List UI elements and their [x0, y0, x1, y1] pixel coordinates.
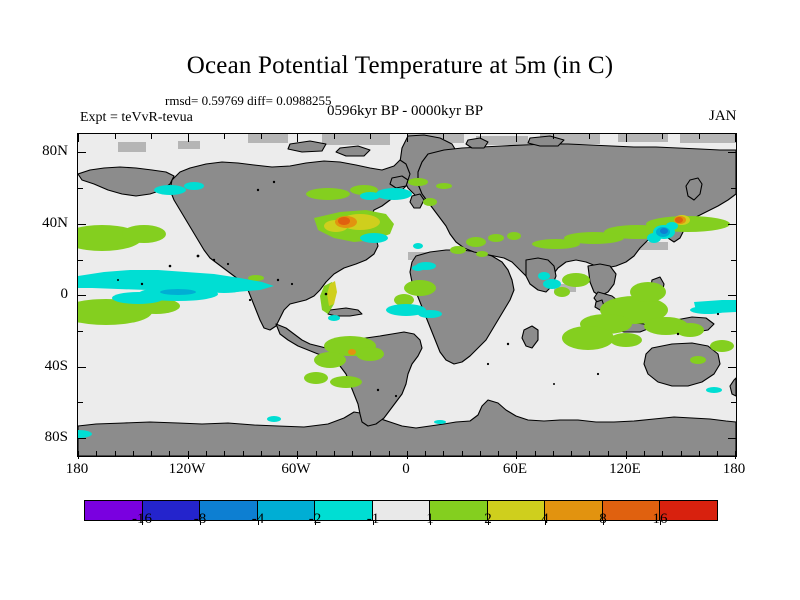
xtick-minor	[498, 451, 499, 456]
xtick-top-major	[407, 134, 408, 142]
xtick-top-minor	[589, 134, 590, 139]
xtick-major	[516, 451, 517, 459]
figure-canvas: Ocean Potential Temperature at 5m (in C)…	[0, 0, 800, 600]
xtick-label: 0	[366, 461, 446, 478]
xtick-top-minor	[370, 134, 371, 139]
xtick-top-major	[735, 134, 736, 142]
ytick-right-major	[728, 367, 736, 368]
ytick-major	[78, 367, 86, 368]
xtick-top-major	[78, 134, 79, 142]
ytick-right-major	[728, 295, 736, 296]
xtick-major	[297, 451, 298, 459]
xtick-minor	[316, 451, 317, 456]
xtick-minor	[243, 451, 244, 456]
xtick-minor	[334, 451, 335, 456]
xtick-minor	[535, 451, 536, 456]
xtick-top-minor	[151, 134, 152, 139]
xtick-minor	[699, 451, 700, 456]
xtick-major	[407, 451, 408, 459]
ytick-label: 0	[22, 286, 68, 303]
xtick-top-minor	[115, 134, 116, 139]
colorbar-label: 1	[407, 511, 453, 528]
xtick-top-major	[188, 134, 189, 142]
ytick-right-minor	[731, 331, 736, 332]
xtick-top-minor	[480, 134, 481, 139]
ytick-minor	[78, 402, 83, 403]
xtick-top-minor	[662, 134, 663, 139]
map-plot-area	[77, 133, 737, 457]
xtick-minor	[553, 451, 554, 456]
colorbar-label: -16	[119, 511, 165, 528]
ytick-major	[78, 224, 86, 225]
xtick-top-minor	[443, 134, 444, 139]
rmsd-annotation: rmsd= 0.59769 diff= 0.0988255	[165, 93, 331, 109]
ytick-right-minor	[731, 188, 736, 189]
ytick-major	[78, 152, 86, 153]
ytick-right-major	[728, 152, 736, 153]
xtick-top-major	[626, 134, 627, 142]
ytick-label: 80N	[22, 143, 68, 160]
colorbar-label: 4	[522, 511, 568, 528]
page-title: Ocean Potential Temperature at 5m (in C)	[0, 52, 800, 80]
xtick-top-minor	[334, 134, 335, 139]
xtick-major	[78, 451, 79, 459]
period-annotation: 0596kyr BP - 0000kyr BP	[327, 103, 483, 120]
xtick-minor	[571, 451, 572, 456]
xtick-top-minor	[224, 134, 225, 139]
xtick-minor	[589, 451, 590, 456]
xtick-minor	[279, 451, 280, 456]
colorbar-label: -4	[235, 511, 281, 528]
xtick-label: 180	[37, 461, 117, 478]
ytick-minor	[78, 331, 83, 332]
xtick-minor	[133, 451, 134, 456]
xtick-minor	[717, 451, 718, 456]
ytick-right-minor	[731, 260, 736, 261]
xtick-minor	[389, 451, 390, 456]
month-annotation: JAN	[709, 108, 737, 125]
ytick-label: 40N	[22, 215, 68, 232]
xtick-label: 60E	[475, 461, 555, 478]
colorbar-label: -1	[350, 511, 396, 528]
xtick-minor	[352, 451, 353, 456]
ytick-right-major	[728, 224, 736, 225]
xtick-top-major	[516, 134, 517, 142]
xtick-major	[188, 451, 189, 459]
xtick-minor	[462, 451, 463, 456]
xtick-minor	[480, 451, 481, 456]
xtick-major	[735, 451, 736, 459]
xtick-minor	[370, 451, 371, 456]
xtick-minor	[425, 451, 426, 456]
xtick-minor	[115, 451, 116, 456]
ytick-right-major	[728, 438, 736, 439]
xtick-minor	[644, 451, 645, 456]
xtick-major	[626, 451, 627, 459]
xtick-minor	[224, 451, 225, 456]
xtick-top-minor	[553, 134, 554, 139]
ytick-right-minor	[731, 402, 736, 403]
ytick-minor	[78, 260, 83, 261]
anomaly-blue-layer	[660, 228, 668, 234]
xtick-minor	[151, 451, 152, 456]
world-map-svg	[78, 134, 736, 456]
xtick-top-minor	[261, 134, 262, 139]
xtick-label: 60W	[256, 461, 336, 478]
xtick-top-minor	[699, 134, 700, 139]
colorbar-label: 8	[580, 511, 626, 528]
xtick-minor	[261, 451, 262, 456]
xtick-minor	[662, 451, 663, 456]
colorbar-label: -2	[292, 511, 338, 528]
xtick-minor	[169, 451, 170, 456]
xtick-minor	[206, 451, 207, 456]
xtick-minor	[96, 451, 97, 456]
ytick-major	[78, 438, 86, 439]
xtick-label: 120W	[147, 461, 227, 478]
ytick-label: 80S	[22, 429, 68, 446]
ytick-major	[78, 295, 86, 296]
xtick-minor	[443, 451, 444, 456]
colorbar-label: 16	[637, 511, 683, 528]
ytick-label: 40S	[22, 358, 68, 375]
ytick-minor	[78, 188, 83, 189]
xtick-label: 180	[694, 461, 774, 478]
colorbar-label: -8	[177, 511, 223, 528]
xtick-minor	[681, 451, 682, 456]
colorbar-label: 2	[465, 511, 511, 528]
map-canvas	[78, 134, 736, 456]
xtick-top-major	[297, 134, 298, 142]
xtick-minor	[608, 451, 609, 456]
xtick-label: 120E	[585, 461, 665, 478]
experiment-annotation: Expt = teVvR-tevua	[80, 110, 193, 126]
